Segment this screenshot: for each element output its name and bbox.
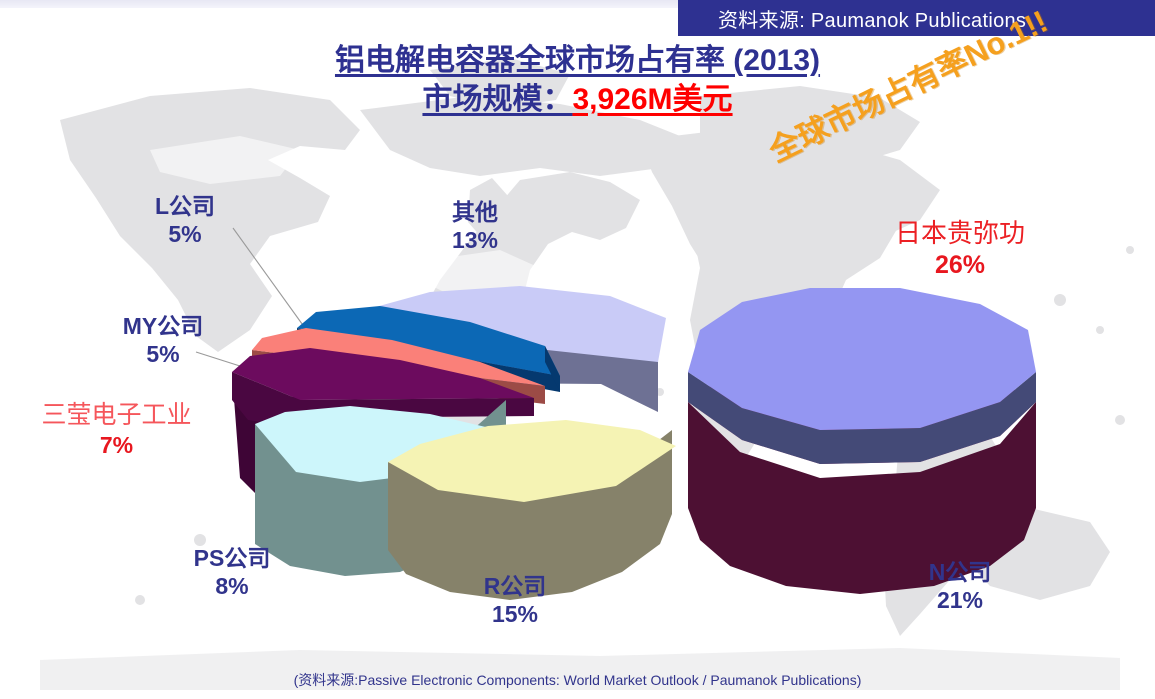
label-n-company: N公司 21%	[880, 558, 1040, 614]
label-l-company-pct: 5%	[110, 220, 260, 248]
label-my-company: MY公司 5%	[78, 312, 248, 368]
label-n-company-pct: 21%	[880, 586, 1040, 614]
slide-canvas: 资料来源: Paumanok Publications 铝电解电容器全球市场占有…	[0, 0, 1155, 699]
label-ps-company-pct: 8%	[152, 572, 312, 600]
footer-source-text: (资料来源:Passive Electronic Components: Wor…	[294, 672, 862, 688]
label-ps-company-name: PS公司	[152, 544, 312, 572]
label-other-name: 其他	[400, 198, 550, 226]
label-my-company-name: MY公司	[78, 312, 248, 340]
label-r-company-name: R公司	[440, 572, 590, 600]
label-other: 其他 13%	[400, 198, 550, 254]
footer-source: (资料来源:Passive Electronic Components: Wor…	[0, 670, 1155, 690]
label-nippon-chemicon: 日本贵弥功 26%	[850, 218, 1070, 280]
label-n-company-name: N公司	[880, 558, 1040, 586]
label-sanying-name: 三莹电子工业	[4, 400, 229, 431]
label-l-company: L公司 5%	[110, 192, 260, 248]
label-ps-company: PS公司 8%	[152, 544, 312, 600]
label-nippon-chemicon-name: 日本贵弥功	[850, 218, 1070, 250]
label-sanying-pct: 7%	[4, 431, 229, 459]
label-r-company-pct: 15%	[440, 600, 590, 628]
pie-exploded-group	[688, 288, 1036, 594]
label-my-company-pct: 5%	[78, 340, 248, 368]
label-l-company-name: L公司	[110, 192, 260, 220]
label-sanying: 三莹电子工业 7%	[4, 400, 229, 459]
label-other-pct: 13%	[400, 226, 550, 254]
label-r-company: R公司 15%	[440, 572, 590, 628]
label-nippon-chemicon-pct: 26%	[850, 250, 1070, 281]
